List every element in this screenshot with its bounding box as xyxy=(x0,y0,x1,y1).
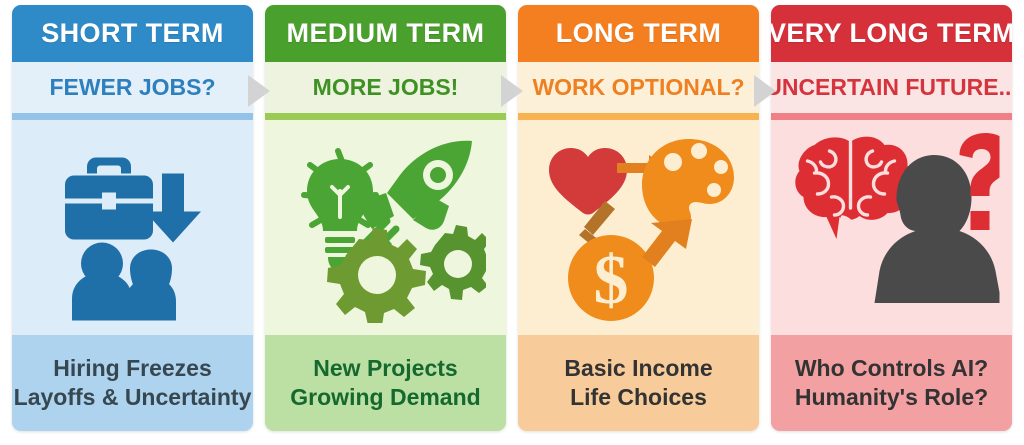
panel-footer-medium-term: New Projects Growing Demand xyxy=(265,335,506,431)
brain-icon xyxy=(795,136,913,238)
panel-very-long-term[interactable]: VERY LONG TERM UNCERTAIN FUTURE... xyxy=(771,5,1012,431)
panel-subtitle-short-term: FEWER JOBS? xyxy=(12,62,253,113)
gear-small-icon xyxy=(420,225,486,300)
panel-subtitle-long-term: WORK OPTIONAL? xyxy=(518,62,759,113)
panel-footer-long-term: Basic Income Life Choices xyxy=(518,335,759,431)
icon-group-short-term xyxy=(12,120,253,335)
footer-line-1: New Projects xyxy=(313,355,457,382)
two-people-icon xyxy=(72,242,176,320)
arrow-up-right-icon xyxy=(642,219,692,267)
panel-body-medium-term xyxy=(265,120,506,335)
panel-long-term[interactable]: LONG TERM WORK OPTIONAL? xyxy=(518,5,759,431)
panel-body-very-long-term xyxy=(771,120,1012,335)
panel-footer-short-term: Hiring Freezes Layoffs & Uncertainty xyxy=(12,335,253,431)
footer-line-2: Humanity's Role? xyxy=(795,384,988,411)
panel-subtitle-very-long-term: UNCERTAIN FUTURE... xyxy=(771,62,1012,113)
panel-short-term[interactable]: SHORT TERM FEWER JOBS? xyxy=(12,5,253,431)
panel-body-short-term xyxy=(12,120,253,335)
icon-group-long-term: $ xyxy=(518,120,759,335)
panel-header-medium-term: MEDIUM TERM xyxy=(265,5,506,62)
footer-line-1: Hiring Freezes xyxy=(53,355,212,382)
panel-header-short-term: SHORT TERM xyxy=(12,5,253,62)
footer-line-2: Life Choices xyxy=(570,384,707,411)
infographic-board: SHORT TERM FEWER JOBS? xyxy=(0,0,1024,445)
briefcase-icon xyxy=(65,157,153,239)
panel-rule-medium-term xyxy=(265,113,506,120)
panel-header-very-long-term: VERY LONG TERM xyxy=(771,5,1012,62)
palette-icon xyxy=(642,139,734,228)
dollar-coin-icon: $ xyxy=(568,235,654,321)
panel-rule-long-term xyxy=(518,113,759,120)
svg-text:$: $ xyxy=(593,242,628,319)
down-arrow-icon xyxy=(145,173,201,242)
panel-body-long-term: $ xyxy=(518,120,759,335)
footer-line-1: Basic Income xyxy=(564,355,712,382)
panel-subtitle-medium-term: MORE JOBS! xyxy=(265,62,506,113)
footer-line-2: Growing Demand xyxy=(290,384,480,411)
heart-icon xyxy=(549,148,627,215)
footer-line-1: Who Controls AI? xyxy=(795,355,988,382)
footer-line-2: Layoffs & Uncertainty xyxy=(14,384,252,411)
icon-group-very-long-term xyxy=(771,120,1012,335)
panel-header-long-term: LONG TERM xyxy=(518,5,759,62)
icon-group-medium-term xyxy=(265,120,506,335)
panel-footer-very-long-term: Who Controls AI? Humanity's Role? xyxy=(771,335,1012,431)
panel-rule-very-long-term xyxy=(771,113,1012,120)
panel-rule-short-term xyxy=(12,113,253,120)
panel-medium-term[interactable]: MEDIUM TERM MORE JOBS! xyxy=(265,5,506,431)
